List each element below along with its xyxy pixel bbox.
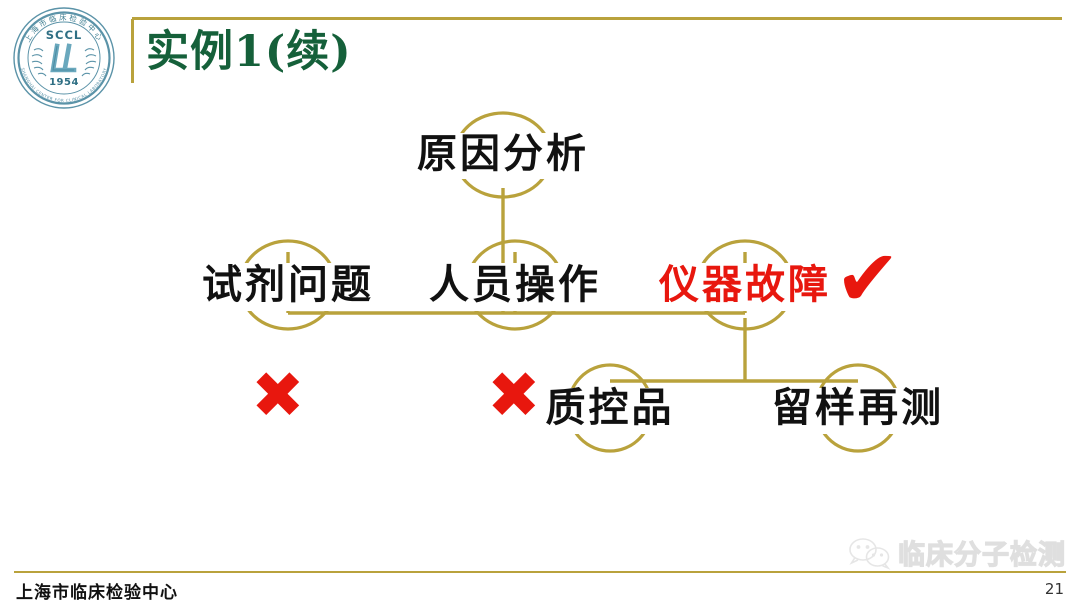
node-label-instrument: 仪器故障: [658, 261, 831, 308]
watermark-text: 临床分子检测: [898, 541, 1066, 571]
page-number: 21: [1045, 580, 1064, 598]
svg-text:SCCL: SCCL: [46, 28, 83, 42]
node-label-operator: 人员操作: [429, 261, 601, 308]
cross-mark-icon-operator: ✖: [487, 364, 541, 428]
watermark: 临床分子检测: [846, 536, 1066, 575]
node-label-reagent: 试剂问题: [202, 261, 374, 308]
sccl-seal-logo: 上海市临床检验中心 SHANGHAI CENTER FOR CLINICAL L…: [12, 6, 116, 110]
node-label-root: 原因分析: [417, 130, 589, 177]
slide-canvas: 上海市临床检验中心 SHANGHAI CENTER FOR CLINICAL L…: [0, 0, 1080, 608]
page-title: 实例1(续): [146, 22, 352, 82]
svg-text:1954: 1954: [49, 77, 79, 88]
wechat-icon: [846, 536, 892, 575]
header-accent-bar: [131, 19, 134, 83]
footer-organization: 上海市临床检验中心: [16, 578, 178, 603]
node-label-qc-material: 质控品: [546, 384, 675, 431]
header-rule: [132, 17, 1062, 20]
cross-mark-icon-reagent: ✖: [251, 364, 305, 428]
diagram-node-labels: 原因分析 试剂问题 人员操作 仪器故障 质控品 留样再测: [202, 130, 944, 431]
check-mark-icon-instrument: ✔: [835, 240, 900, 318]
node-label-retest-sample: 留样再测: [772, 384, 944, 431]
footer-rule: [14, 571, 1066, 573]
